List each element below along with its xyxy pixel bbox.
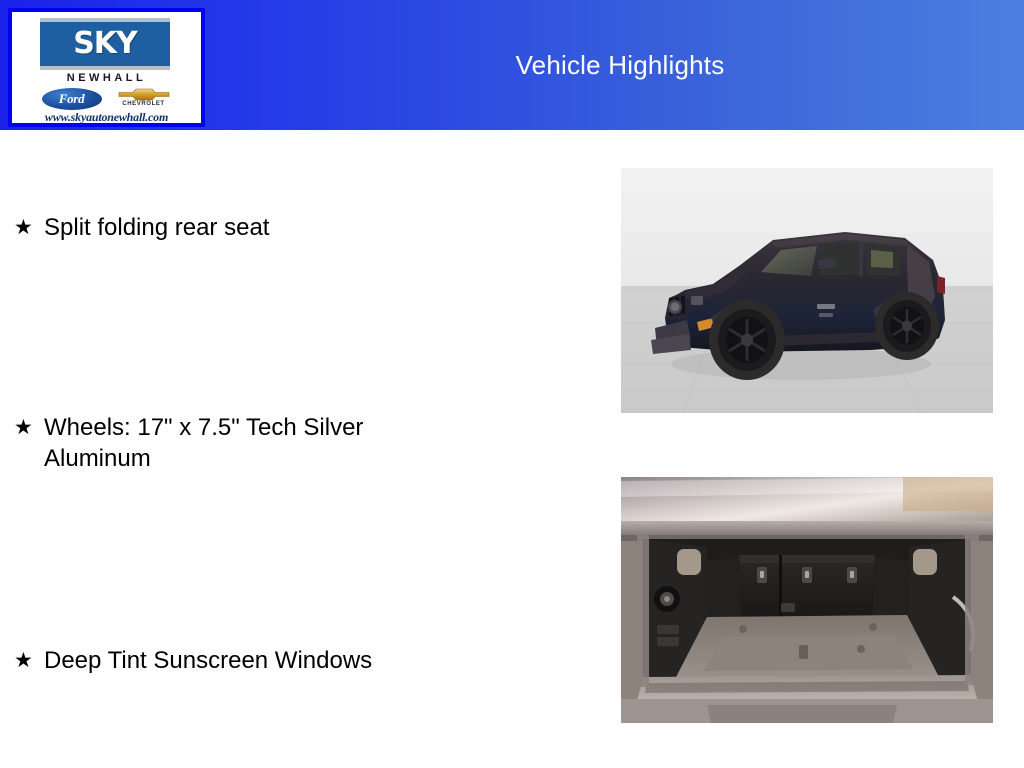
star-icon: ★: [14, 412, 44, 442]
dealer-logo-panel: SKY NEWHALL Ford CHEVROLE: [12, 12, 201, 123]
dealer-logo: SKY NEWHALL Ford CHEVROLE: [8, 8, 205, 127]
highlight-text: Deep Tint Sunscreen Windows: [44, 645, 474, 676]
highlight-text: Wheels: 17" x 7.5" Tech Silver Aluminum: [44, 412, 474, 474]
franchise-brand-row: Ford CHEVROLET: [12, 86, 201, 112]
star-icon: ★: [14, 645, 44, 675]
star-icon: ★: [14, 212, 44, 242]
chevrolet-logo-icon: CHEVROLET: [115, 87, 173, 111]
highlight-text: Split folding rear seat: [44, 212, 474, 243]
chevrolet-logo-label: CHEVROLET: [115, 101, 173, 107]
list-item: ★ Deep Tint Sunscreen Windows: [14, 645, 574, 676]
list-item: ★ Split folding rear seat: [14, 212, 574, 243]
vehicle-exterior-photo: [621, 168, 993, 413]
chevrolet-bowtie-icon: [118, 88, 170, 101]
ford-logo-icon: Ford: [41, 87, 103, 111]
vehicle-interior-cargo-photo: [621, 477, 993, 723]
cargo-area-illustration: [621, 477, 993, 723]
page-title: Vehicle Highlights: [230, 0, 1010, 130]
ford-logo-label: Ford: [59, 91, 85, 107]
list-item: ★ Wheels: 17" x 7.5" Tech Silver Aluminu…: [14, 412, 574, 474]
dealer-location-label: NEWHALL: [12, 72, 201, 84]
sky-brand-label: SKY: [73, 29, 137, 59]
vehicle-exterior-illustration: [621, 168, 993, 413]
sky-brand-box: SKY: [40, 18, 170, 70]
dealer-website-label: www.skyautonewhall.com: [12, 110, 201, 123]
